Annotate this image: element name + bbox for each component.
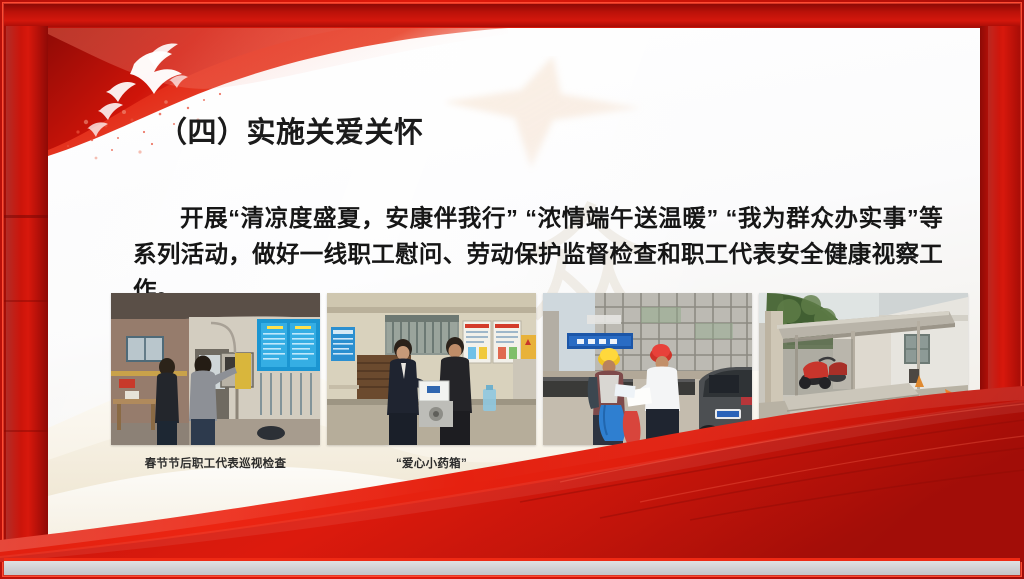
frame-top-band [4, 4, 1020, 27]
photo-spring-festival-inspection[interactable] [111, 293, 320, 445]
frame-left-fold-line [4, 430, 48, 432]
body-paragraph: 开展“清凉度盛夏，安康伴我行” “浓情端午送温暖” “我为群众办实事”等系列活动… [133, 200, 943, 308]
frame-left-fold-line [4, 300, 48, 302]
frame-left-sheen [6, 26, 21, 543]
slide-root: 众 [0, 0, 1024, 579]
frame-left-fold-line [4, 215, 48, 218]
photo-gallery [111, 293, 971, 448]
slide-canvas: 众 [48, 28, 980, 540]
frame-right-sheen [988, 26, 1000, 543]
photo-send-cooling[interactable] [543, 293, 752, 445]
caption-spring-festival-inspection: 春节节后职工代表巡视检查 [111, 453, 320, 475]
frame-bottom-gray-strip [4, 561, 1020, 575]
caption-ebike-shelter: 为职工搭建电动车棚 [759, 453, 968, 475]
page-title: （四）实施关爱关怀 [158, 114, 424, 152]
photo-caption-row: 春节节后职工代表巡视检查 “爱心小药箱” 送清凉现场 为职工搭建电动车棚 [111, 453, 971, 475]
photo-love-medicine-box[interactable] [327, 293, 536, 445]
photo-ebike-shelter[interactable] [759, 293, 968, 445]
frame-right-curtain-band [980, 26, 1020, 543]
caption-love-medicine-box: “爱心小药箱” [327, 453, 536, 475]
caption-send-cooling: 送清凉现场 [543, 453, 752, 475]
